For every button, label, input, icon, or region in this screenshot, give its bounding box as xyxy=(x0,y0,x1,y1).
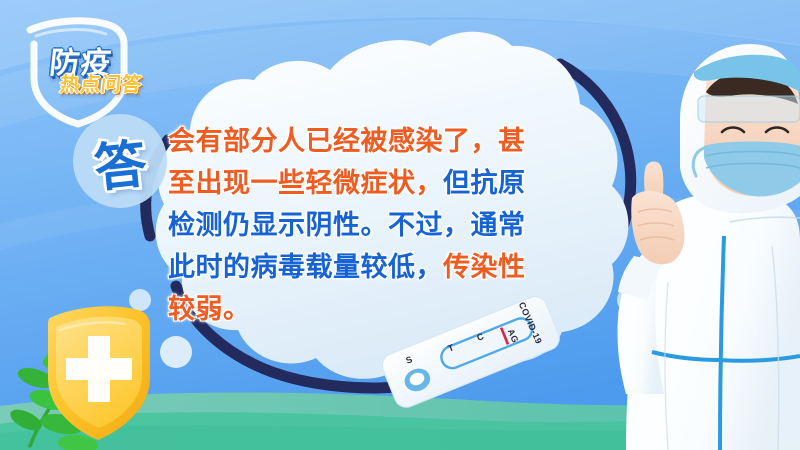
poster-canvas: 答 会有部分人已经被感染了，甚 至出现一些轻微症状，但抗原 检测仍显示阴性。不过… xyxy=(0,0,800,450)
worker-face-shield xyxy=(698,96,800,122)
worker-hand xyxy=(631,162,684,265)
worker-fist xyxy=(631,191,684,264)
worker-figure xyxy=(617,44,800,450)
medical-worker-icon xyxy=(0,0,800,450)
